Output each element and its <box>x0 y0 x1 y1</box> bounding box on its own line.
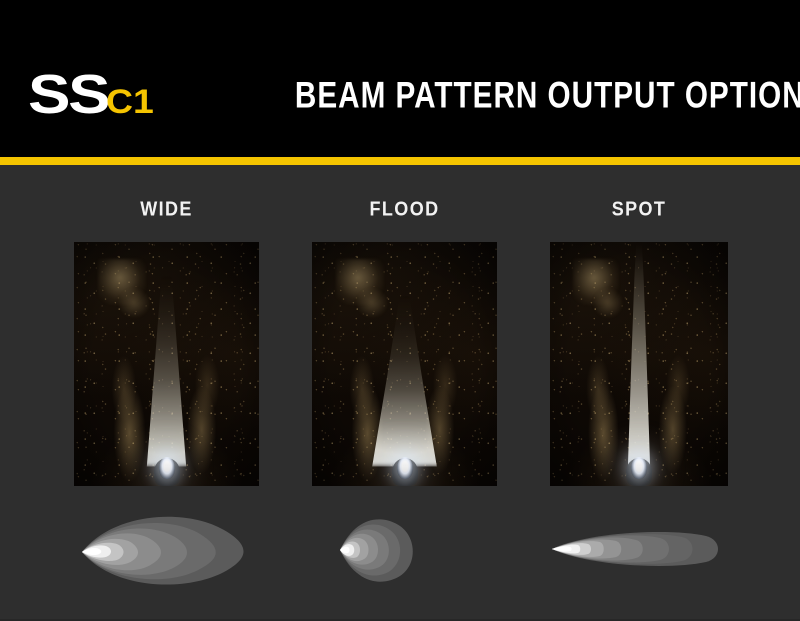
flood-beam-pattern <box>312 506 497 594</box>
spot-beam-pattern-graphic <box>550 506 728 594</box>
spot-beam-pattern <box>550 506 728 594</box>
page-title: BEAM PATTERN OUTPUT OPTIONS <box>295 76 780 117</box>
beam-photo-wide <box>74 242 259 486</box>
column-label-wide: WIDE <box>74 196 259 221</box>
logo-text-primary: SS <box>28 67 108 122</box>
photo-vignette <box>550 242 728 486</box>
accent-divider <box>0 157 800 165</box>
wide-beam-pattern <box>74 506 259 594</box>
logo-text-secondary: C1 <box>106 85 154 119</box>
wide-beam-pattern-graphic <box>74 506 259 594</box>
flood-beam-pattern-graphic <box>312 506 497 594</box>
header-bar: SS C1 BEAM PATTERN OUTPUT OPTIONS <box>0 0 800 157</box>
column-label-row: WIDE FLOOD SPOT <box>0 196 800 222</box>
photo-vignette <box>74 242 259 486</box>
beam-photo-flood <box>312 242 497 486</box>
beam-photo-spot <box>550 242 728 486</box>
photo-vignette <box>312 242 497 486</box>
column-label-spot: SPOT <box>550 196 728 221</box>
ssc1-logo: SS C1 <box>28 68 150 122</box>
column-label-flood: FLOOD <box>312 196 497 221</box>
beam-pattern-infographic: SS C1 BEAM PATTERN OUTPUT OPTIONS WIDE F… <box>0 0 800 621</box>
